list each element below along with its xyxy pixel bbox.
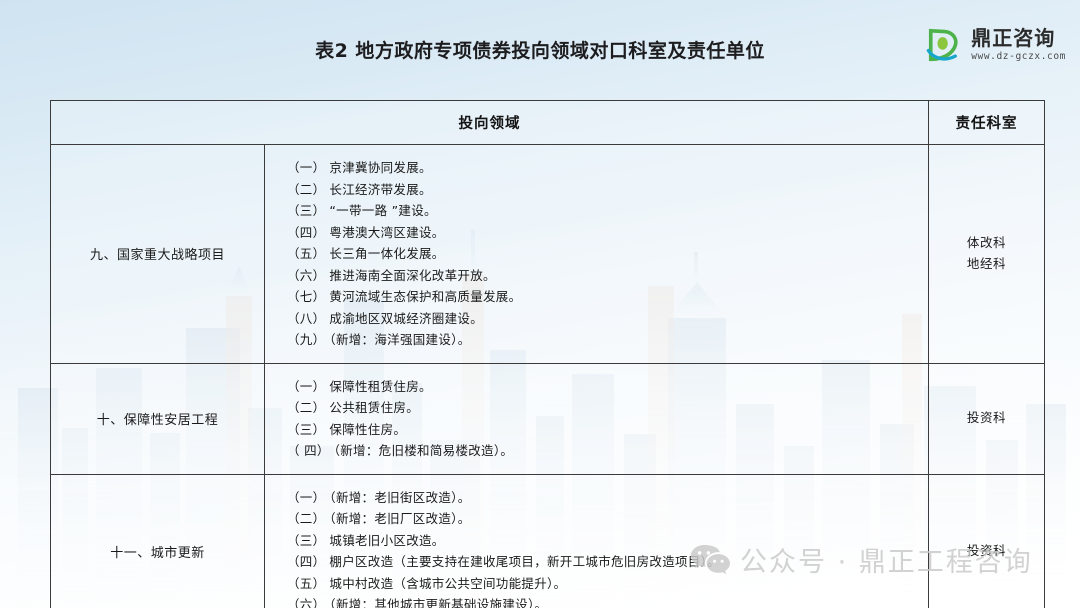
item-line: （五）长三角一体化发展。 [287, 243, 918, 265]
row-items-cell: （一）（新增：老旧街区改造）。（二）（新增：老旧厂区改造）。（三）城镇老旧小区改… [265, 474, 929, 608]
item-text: 成渝地区双城经济圈建设。 [329, 311, 483, 326]
bond-allocation-table: 投向领域 责任科室 九、国家重大战略项目（一）京津冀协同发展。（二）长江经济带发… [50, 100, 1045, 608]
item-text: 京津冀协同发展。 [329, 160, 431, 175]
dept-line: 投资科 [931, 408, 1042, 429]
item-text: 长三角一体化发展。 [329, 246, 444, 261]
table-body: 九、国家重大战略项目（一）京津冀协同发展。（二）长江经济带发展。（三）“一带一路… [51, 145, 1045, 608]
dept-line: 投资科 [931, 541, 1042, 562]
table-row: 十、保障性安居工程（一）保障性租赁住房。（二）公共租赁住房。（三）保障性住房。（… [51, 363, 1045, 474]
item-number: （三） [287, 422, 325, 437]
item-line: （一）保障性租赁住房。 [287, 376, 918, 398]
row-category-cell: 十、保障性安居工程 [51, 363, 265, 474]
dept-line: 体改科 [931, 233, 1042, 254]
item-number: （九） [287, 332, 325, 347]
item-number: （五） [287, 576, 325, 591]
item-text: （新增：其他城市更新基础设施建设）。 [329, 597, 547, 608]
item-text: “一带一路 ”建设。 [329, 203, 436, 218]
item-text: 保障性租赁住房。 [329, 379, 431, 394]
item-text: 城镇老旧小区改造。 [329, 533, 444, 548]
item-line: （五）城中村改造（含城市公共空间功能提升）。 [287, 573, 918, 595]
brand-text-block: 鼎正咨询 www.dz-gczx.com [971, 28, 1066, 62]
item-number: （ 四） [287, 443, 330, 458]
dept-line: 地经科 [931, 254, 1042, 275]
item-line: （一）（新增：老旧街区改造）。 [287, 487, 918, 509]
item-line: （六）（新增：其他城市更新基础设施建设）。 [287, 594, 918, 608]
item-number: （一） [287, 160, 325, 175]
item-number: （二） [287, 400, 325, 415]
item-line: （二）（新增：老旧厂区改造）。 [287, 508, 918, 530]
item-number: （八） [287, 311, 325, 326]
row-dept-cell: 投资科 [929, 363, 1045, 474]
item-text: 保障性住房。 [329, 422, 406, 437]
item-number: （六） [287, 268, 325, 283]
page-header: 表2 地方政府专项债券投向领域对口科室及责任单位 鼎正咨询 www.dz-gcz… [0, 0, 1080, 92]
item-number: （二） [287, 511, 325, 526]
item-number: （二） [287, 182, 325, 197]
item-text: 公共租赁住房。 [329, 400, 419, 415]
item-text: 城中村改造（含城市公共空间功能提升）。 [329, 576, 566, 591]
row-dept-cell: 投资科 [929, 474, 1045, 608]
brand-logo: 鼎正咨询 www.dz-gczx.com [926, 26, 1066, 64]
item-line: （三）保障性住房。 [287, 419, 918, 441]
item-text: （新增：老旧厂区改造）。 [329, 511, 470, 526]
item-number: （三） [287, 533, 325, 548]
item-number: （一） [287, 379, 325, 394]
header-field-label: 投向领域 [51, 101, 929, 145]
brand-name: 鼎正咨询 [971, 28, 1066, 48]
item-line: （四）棚户区改造（主要支持在建收尾项目，新开工城市危旧房改造项目）。 [287, 551, 918, 573]
row-items-cell: （一）保障性租赁住房。（二）公共租赁住房。（三）保障性住房。（ 四）（新增：危旧… [265, 363, 929, 474]
item-line: （六）推进海南全面深化改革开放。 [287, 265, 918, 287]
item-number: （七） [287, 289, 325, 304]
item-line: （三）“一带一路 ”建设。 [287, 200, 918, 222]
item-text: 推进海南全面深化改革开放。 [329, 268, 495, 283]
item-number: （五） [287, 246, 325, 261]
item-number: （四） [287, 554, 325, 569]
item-line: （九）（新增：海洋强国建设）。 [287, 329, 918, 351]
brand-url: www.dz-gczx.com [971, 52, 1066, 62]
item-number: （一） [287, 490, 325, 505]
item-line: （三）城镇老旧小区改造。 [287, 530, 918, 552]
item-number: （四） [287, 225, 325, 240]
table-row: 九、国家重大战略项目（一）京津冀协同发展。（二）长江经济带发展。（三）“一带一路… [51, 145, 1045, 364]
item-line: （八）成渝地区双城经济圈建设。 [287, 308, 918, 330]
item-text: （新增：海洋强国建设）。 [329, 332, 470, 347]
table-header-row: 投向领域 责任科室 [51, 101, 1045, 145]
table-container: 投向领域 责任科室 九、国家重大战略项目（一）京津冀协同发展。（二）长江经济带发… [50, 100, 1044, 608]
row-items-cell: （一）京津冀协同发展。（二）长江经济带发展。（三）“一带一路 ”建设。（四）粤港… [265, 145, 929, 364]
item-text: 长江经济带发展。 [329, 182, 431, 197]
page-title: 表2 地方政府专项债券投向领域对口科室及责任单位 [0, 36, 1080, 63]
item-text: 粤港澳大湾区建设。 [329, 225, 444, 240]
table-head: 投向领域 责任科室 [51, 101, 1045, 145]
row-dept-cell: 体改科地经科 [929, 145, 1045, 364]
item-text: （新增：老旧街区改造）。 [329, 490, 470, 505]
item-line: （ 四）（新增：危旧楼和简易楼改造）。 [287, 440, 918, 462]
item-line: （四）粤港澳大湾区建设。 [287, 222, 918, 244]
item-text: 黄河流域生态保护和高质量发展。 [329, 289, 521, 304]
item-text: （新增：危旧楼和简易楼改造）。 [334, 443, 514, 458]
item-line: （二）长江经济带发展。 [287, 179, 918, 201]
row-category-cell: 十一、城市更新 [51, 474, 265, 608]
header-dept-label: 责任科室 [929, 101, 1045, 145]
table-row: 十一、城市更新（一）（新增：老旧街区改造）。（二）（新增：老旧厂区改造）。（三）… [51, 474, 1045, 608]
item-line: （七）黄河流域生态保护和高质量发展。 [287, 286, 918, 308]
item-number: （六） [287, 597, 325, 608]
item-line: （二）公共租赁住房。 [287, 397, 918, 419]
item-text: 棚户区改造（主要支持在建收尾项目，新开工城市危旧房改造项目）。 [329, 554, 720, 569]
item-number: （三） [287, 203, 325, 218]
dz-logo-icon [926, 26, 964, 64]
row-category-cell: 九、国家重大战略项目 [51, 145, 265, 364]
item-line: （一）京津冀协同发展。 [287, 157, 918, 179]
